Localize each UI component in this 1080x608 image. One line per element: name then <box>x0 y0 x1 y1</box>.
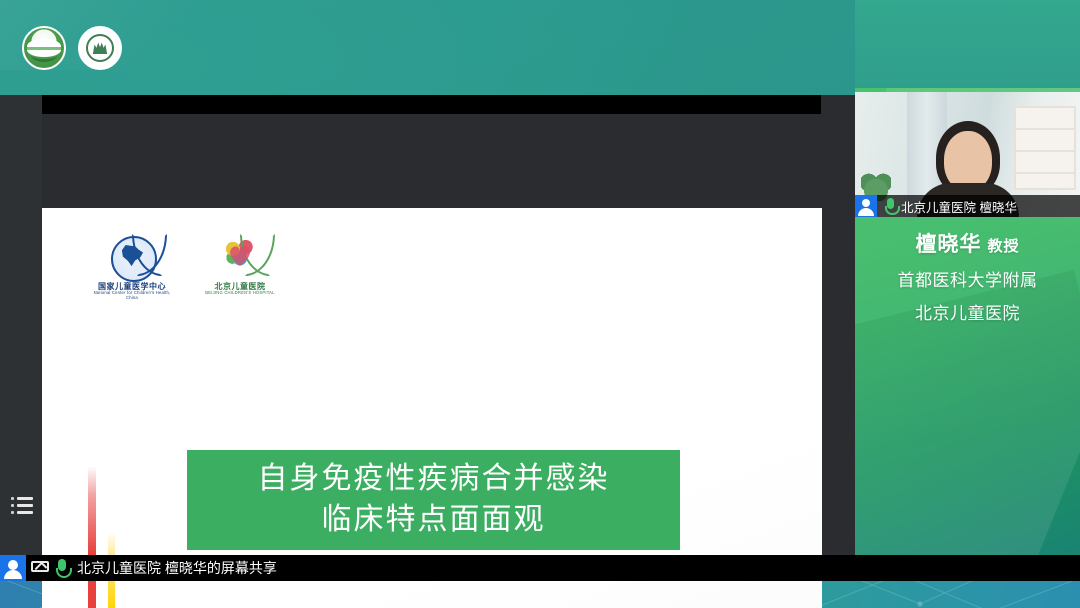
slide-title-line-2: 临床特点面面观 <box>322 502 546 539</box>
speaker-affiliation-line-2: 北京儿童医院 <box>855 299 1080 324</box>
screen-share-icon <box>31 561 49 576</box>
participant-name-badge: 北京儿童医院 檀晓华 <box>855 195 1080 217</box>
screen-share-status-bar: 北京儿童医院 檀晓华的屏幕共享 <box>0 555 1080 581</box>
speaker-info: 檀晓华教授 首都医科大学附属 北京儿童医院 <box>855 228 1080 324</box>
slide-logo-caption-en: National Center for Children's Health, C… <box>89 291 175 301</box>
beijing-childrens-hospital-logo: 北京儿童医院 BEIJING CHILDREN'S HOSPITAL <box>197 230 283 296</box>
participant-name: 北京儿童医院 檀晓华 <box>901 197 1017 216</box>
person-icon <box>855 195 877 217</box>
presentation-slide: 国家儿童医学中心 National Center for Children's … <box>42 208 822 608</box>
participant-video-tile[interactable]: 北京儿童医院 檀晓华 <box>855 92 1080 217</box>
slide-title-line-1: 自身免疫性疾病合并感染 <box>258 461 610 498</box>
meeting-stage: MDT月月坛 国家儿童医学中心 National Center for Chil… <box>0 0 1080 608</box>
header-logos <box>22 26 122 70</box>
share-status-label: 北京儿童医院 檀晓华的屏幕共享 <box>77 558 277 578</box>
panel-header-strip <box>855 0 1080 88</box>
speaker-affiliation-line-1: 首都医科大学附属 <box>855 266 1080 291</box>
national-center-childrens-health-logo: 国家儿童医学中心 National Center for Children's … <box>89 230 175 301</box>
slide-title-block: 自身免疫性疾病合并感染 临床特点面面观 <box>187 450 680 550</box>
slide-logo-caption-en: BEIJING CHILDREN'S HOSPITAL <box>197 291 283 296</box>
microphone-icon <box>55 559 69 577</box>
slide-logos: 国家儿童医学中心 National Center for Children's … <box>89 230 283 301</box>
video-shelf <box>1014 106 1076 190</box>
medical-association-seal-logo <box>78 26 122 70</box>
screen-left-rail <box>0 95 42 555</box>
list-menu-icon[interactable] <box>11 497 33 515</box>
shared-screen-frame: 国家儿童医学中心 National Center for Children's … <box>0 95 855 555</box>
national-health-commission-logo <box>22 26 66 70</box>
decor-bar-red <box>88 466 96 608</box>
speaker-name: 檀晓华 <box>915 233 981 256</box>
person-icon <box>0 555 26 581</box>
microphone-icon <box>884 198 897 214</box>
screen-top-letterbox <box>42 95 821 114</box>
speaker-panel: 北京儿童医院 檀晓华 檀晓华教授 首都医科大学附属 北京儿童医院 <box>855 0 1080 555</box>
speaker-title: 教授 <box>987 238 1019 255</box>
